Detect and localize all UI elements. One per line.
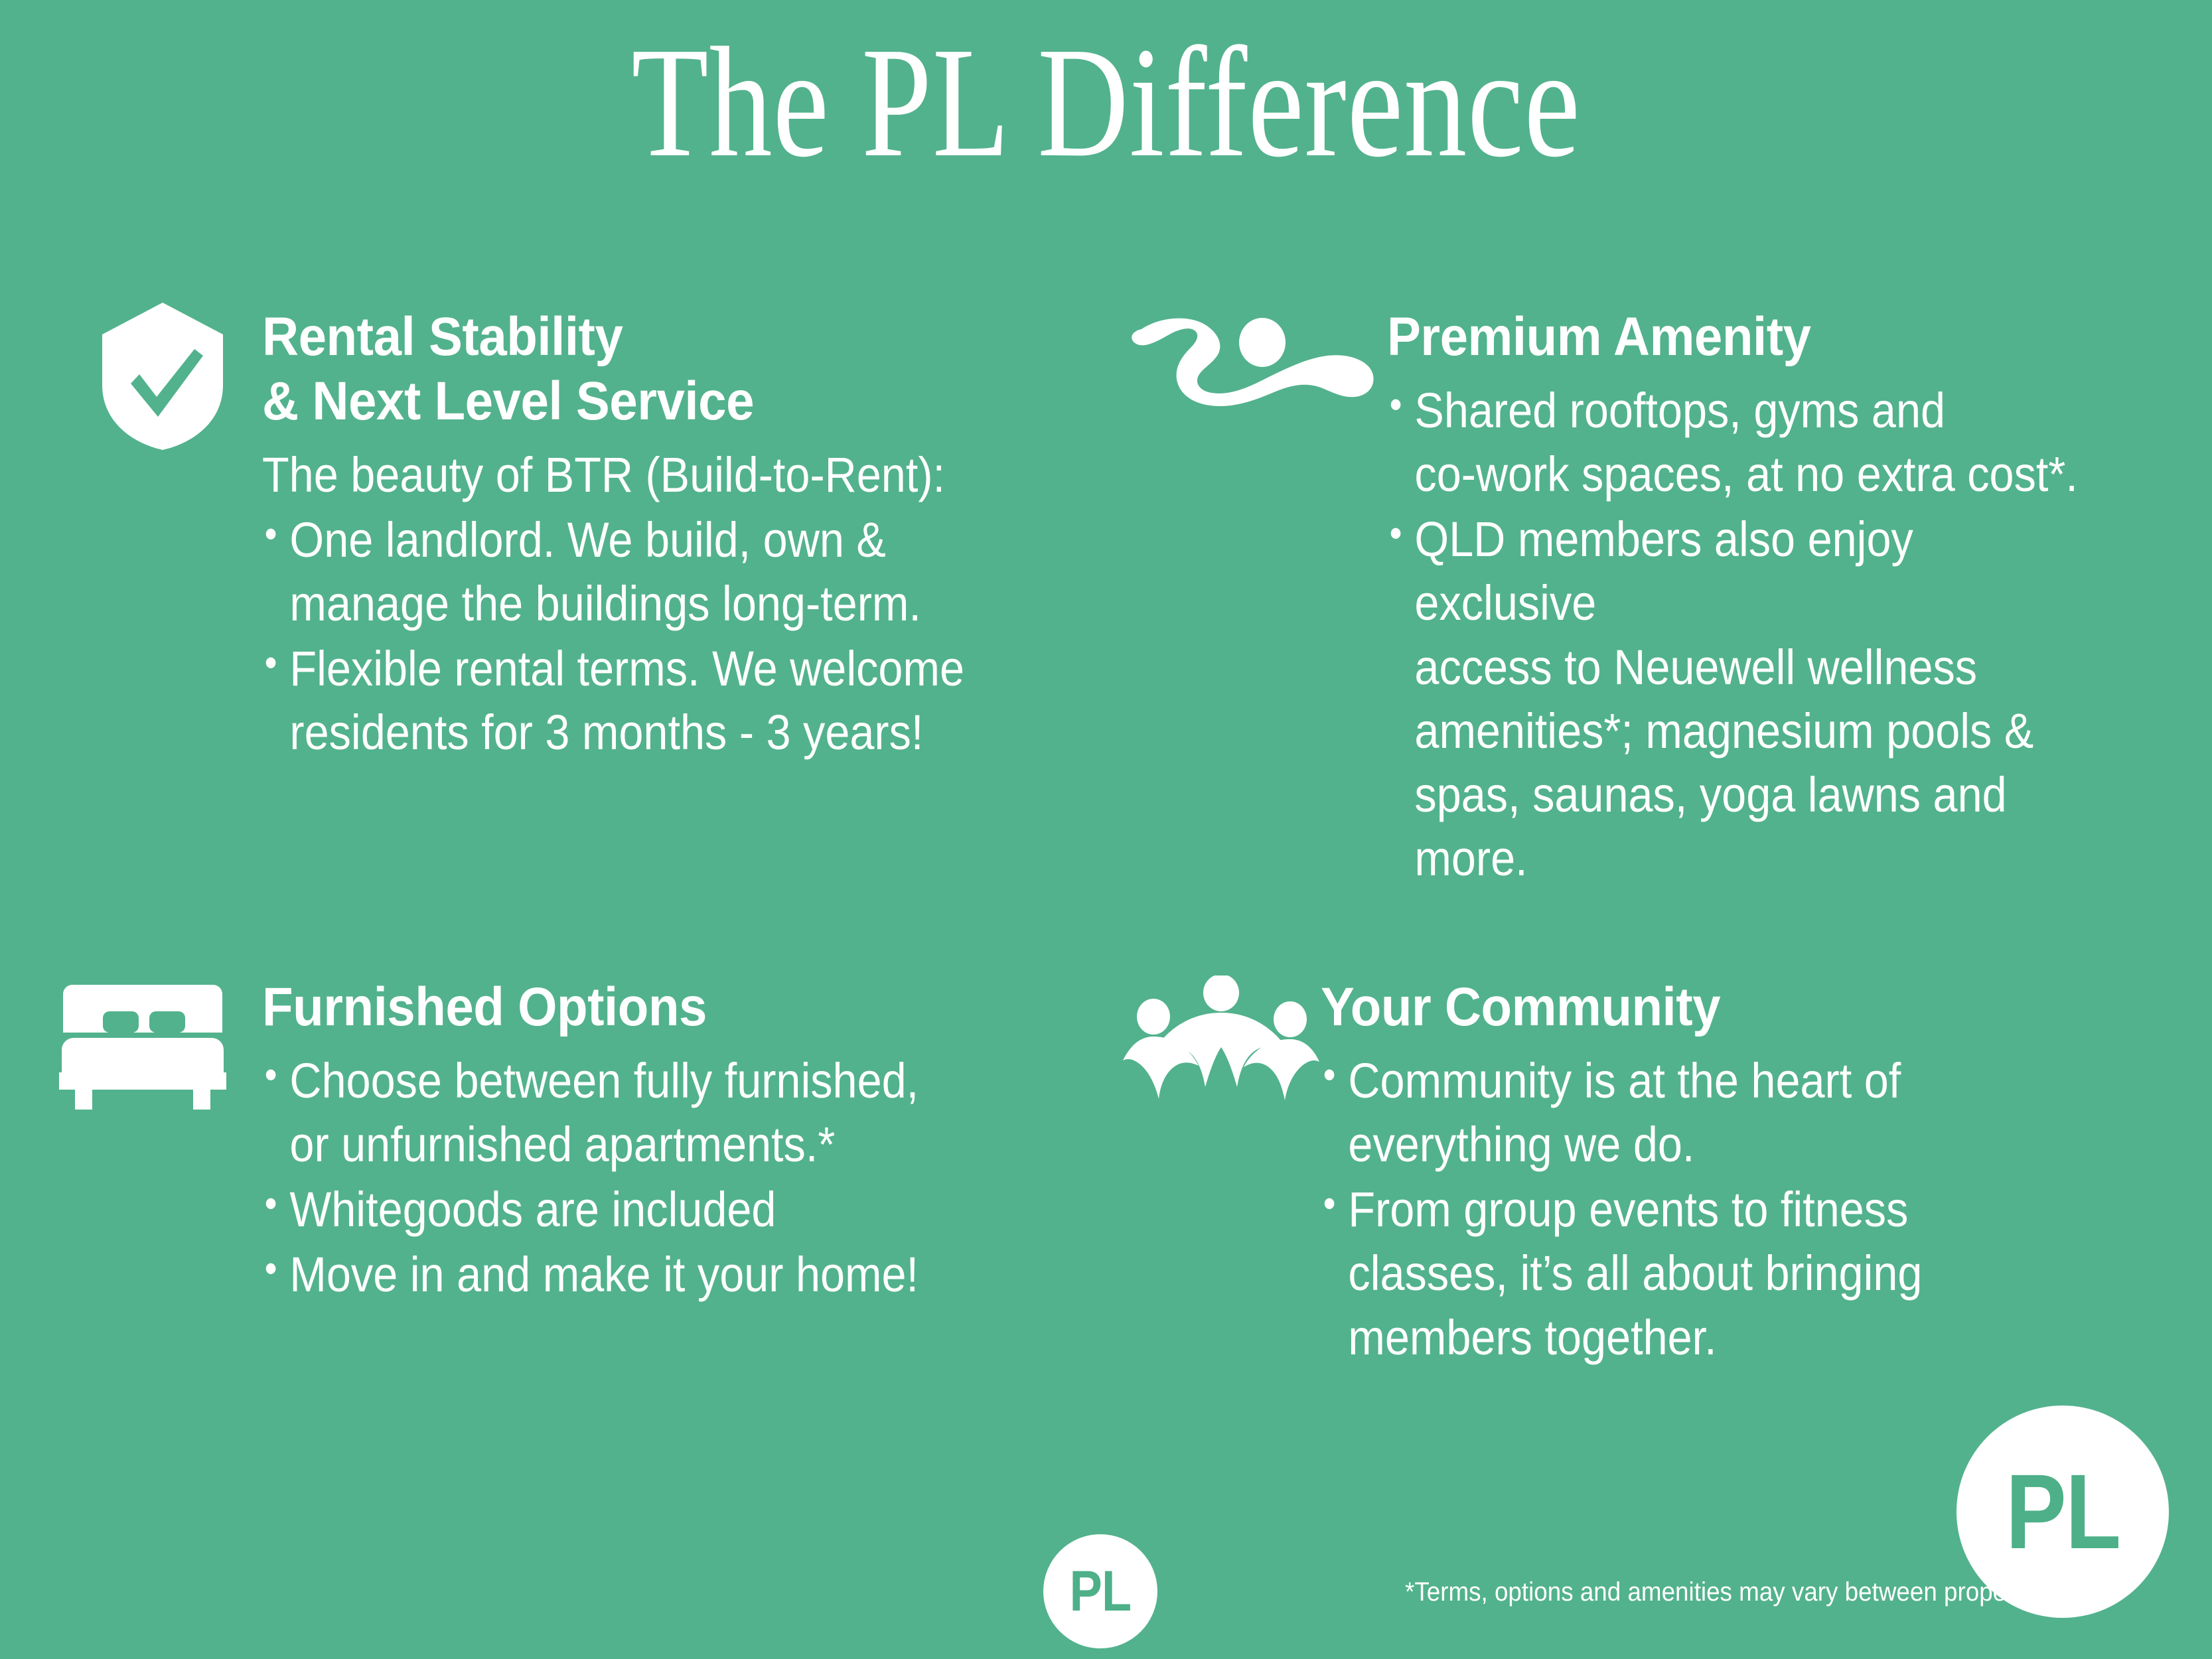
feature-card-premium-amenity: Premium Amenity Shared rooftops, gyms an…: [1128, 305, 2164, 892]
shield-check-icon: [100, 300, 226, 456]
feature-card-your-community: Your Community Community is at the heart…: [1122, 975, 2157, 1371]
feature-bullets: Shared rooftops, gyms and co-work spaces…: [1387, 379, 2164, 891]
list-item: Whitegoods are included: [262, 1178, 973, 1242]
feature-title: Rental Stability & Next Level Service: [262, 305, 1006, 434]
feature-lead: The beauty of BTR (Build-to-Rent):: [262, 443, 982, 507]
list-item: Shared rooftops, gyms and co-work spaces…: [1387, 379, 2086, 506]
list-item: Choose between fully furnished, or unfur…: [262, 1049, 973, 1177]
list-item: One landlord. We build, own & manage the…: [262, 508, 982, 636]
list-item: Flexible rental terms. We welcome reside…: [262, 637, 982, 764]
feature-grid: Rental Stability & Next Level Service Th…: [0, 292, 2212, 1420]
feature-bullets: One landlord. We build, own & manage the…: [262, 508, 1062, 765]
list-item: Community is at the heart of everything …: [1321, 1049, 2073, 1177]
feature-bullets: Community is at the heart of everything …: [1321, 1049, 2157, 1370]
people-group-icon: [1122, 975, 1321, 1105]
footnote-disclaimer: *Terms, options and amenities may vary b…: [1405, 1576, 2059, 1608]
feature-title: Premium Amenity: [1387, 305, 2109, 370]
poster-canvas: The PL Difference Rental Stability & Nex…: [0, 0, 2212, 1659]
swimmer-icon: [1128, 317, 1380, 413]
page-title: The PL Difference: [221, 20, 1990, 186]
list-item: From group events to fitness classes, it…: [1321, 1178, 2073, 1370]
feature-card-furnished-options: Furnished Options Choose between fully f…: [56, 975, 1052, 1309]
feature-card-rental-stability: Rental Stability & Next Level Service Th…: [100, 305, 1062, 766]
feature-bullets: Choose between fully furnished, or unfur…: [262, 1049, 1052, 1307]
pl-logo-large: PL: [1956, 1406, 2169, 1618]
bed-icon: [56, 979, 229, 1116]
pl-logo-small-text: PL: [1070, 1559, 1132, 1624]
list-item: Move in and make it your home!: [262, 1243, 973, 1307]
feature-title: Furnished Options: [262, 975, 997, 1040]
pl-logo-small: PL: [1043, 1534, 1157, 1648]
pl-logo-large-text: PL: [2006, 1451, 2120, 1573]
feature-title: Your Community: [1321, 975, 2099, 1040]
list-item: QLD members also enjoy exclusive access …: [1387, 508, 2086, 891]
